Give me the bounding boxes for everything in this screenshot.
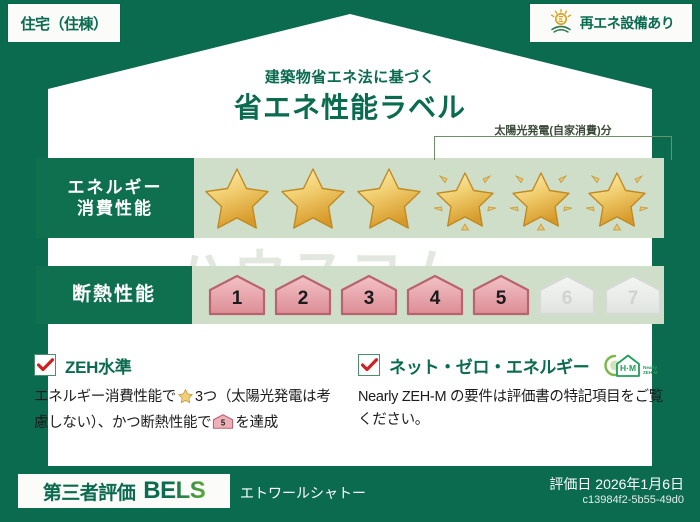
third-party-evaluation-label: 第三者評価 — [43, 478, 136, 505]
zeh-standard-body: エネルギー消費性能で3つ（太陽光発電は考慮しない）、かつ断熱性能で5を達成 — [34, 386, 344, 438]
net-zero-energy-panel: ネット・ゼロ・エネルギー H·M Nearly ZEH-M Nearly ZEH… — [358, 352, 668, 432]
energy-performance-row: エネルギー 消費性能 太陽光発電(自家消費)分 — [36, 158, 664, 238]
energy-performance-label-line2: 消費性能 — [77, 198, 153, 219]
certificate-id: c13984f2-5b55-49d0 — [582, 494, 684, 506]
net-zero-energy-title: ネット・ゼロ・エネルギー — [389, 353, 589, 378]
inline-house-grade-icon: 5 — [212, 413, 234, 438]
star-4-solar — [428, 162, 502, 234]
zeh-body-prefix: エネルギー消費性能で — [34, 389, 176, 405]
evaluation-date: 評価日 2026年1月6日 — [549, 474, 684, 494]
owner-name: エトワールシャトー — [240, 483, 366, 503]
evaluation-date-label: 評価日 — [549, 476, 591, 492]
evaluation-date-value: 2026年1月6日 — [595, 476, 684, 492]
insulation-performance-field: 1 2 3 4 — [192, 266, 664, 324]
third-party-evaluation-badge: 第三者評価 BELS — [18, 474, 230, 508]
zeh-standard-panel: ZEH水準 エネルギー消費性能で3つ（太陽光発電は考慮しない）、かつ断熱性能で5… — [34, 352, 344, 438]
solar-bracket-caption: 太陽光発電(自家消費)分 — [424, 122, 682, 138]
label-subtitle: 建築物省エネ法に基づく — [0, 66, 700, 87]
insulation-performance-row: 断熱性能 1 — [36, 266, 664, 324]
insulation-performance-label: 断熱性能 — [36, 266, 192, 324]
net-zero-energy-checkbox — [358, 354, 380, 376]
zeh-m-logo-icon: H·M Nearly ZEH-M — [602, 352, 658, 379]
star-2 — [276, 162, 350, 234]
insulation-grade-2: 2 — [272, 272, 334, 318]
label-title: 省エネ性能ラベル — [0, 86, 700, 126]
zeh-standard-header: ZEH水準 — [34, 352, 344, 378]
svg-text:ZEH-M: ZEH-M — [643, 370, 658, 375]
bels-energy-label: 住宅（住棟） 再エネ設備あり 建築物省エネ法に基づく 省エネ性能ラベル — [0, 0, 700, 522]
svg-text:H·M: H·M — [620, 363, 636, 373]
sun-renewable-icon — [548, 8, 574, 39]
insulation-performance-label-text: 断熱性能 — [72, 283, 156, 307]
zeh-standard-checkbox — [34, 354, 56, 376]
zeh-standard-title: ZEH水準 — [65, 353, 132, 378]
star-6-solar — [580, 162, 654, 234]
energy-performance-label-line1: エネルギー — [68, 177, 163, 198]
renewable-equipment-tag: 再エネ設備あり — [530, 4, 692, 42]
energy-performance-label: エネルギー 消費性能 — [36, 158, 194, 238]
check-icon — [361, 358, 378, 372]
insulation-grade-5: 5 — [470, 272, 532, 318]
insulation-grade-6: 6 — [536, 272, 598, 318]
insulation-grade-1: 1 — [206, 272, 268, 318]
insulation-grade-7: 7 — [602, 272, 664, 318]
net-zero-energy-header: ネット・ゼロ・エネルギー H·M Nearly ZEH-M — [358, 352, 668, 378]
energy-star-rating — [194, 162, 654, 234]
star-3 — [352, 162, 426, 234]
bels-logo-text: BELS — [143, 477, 205, 505]
check-icon — [37, 358, 54, 372]
insulation-grade-4: 4 — [404, 272, 466, 318]
star-5-solar — [504, 162, 578, 234]
insulation-grade-scale: 1 2 3 4 — [192, 272, 664, 318]
star-1 — [200, 162, 274, 234]
insulation-grade-3: 3 — [338, 272, 400, 318]
zeh-body-suffix: を達成 — [235, 415, 278, 431]
inline-star-icon — [177, 388, 194, 412]
renewable-equipment-tag-label: 再エネ設備あり — [580, 13, 675, 33]
net-zero-energy-body: Nearly ZEH-M の要件は評価書の特記項目をご覧ください。 — [358, 386, 668, 432]
zeh-body-star-count: 3つ（太陽光発電 — [195, 389, 302, 405]
building-type-tag: 住宅（住棟） — [8, 4, 120, 42]
building-type-tag-label: 住宅（住棟） — [20, 13, 107, 34]
label-footer: 第三者評価 BELS エトワールシャトー 評価日 2026年1月6日 c1398… — [0, 466, 700, 522]
energy-performance-field: 太陽光発電(自家消費)分 — [194, 158, 664, 238]
